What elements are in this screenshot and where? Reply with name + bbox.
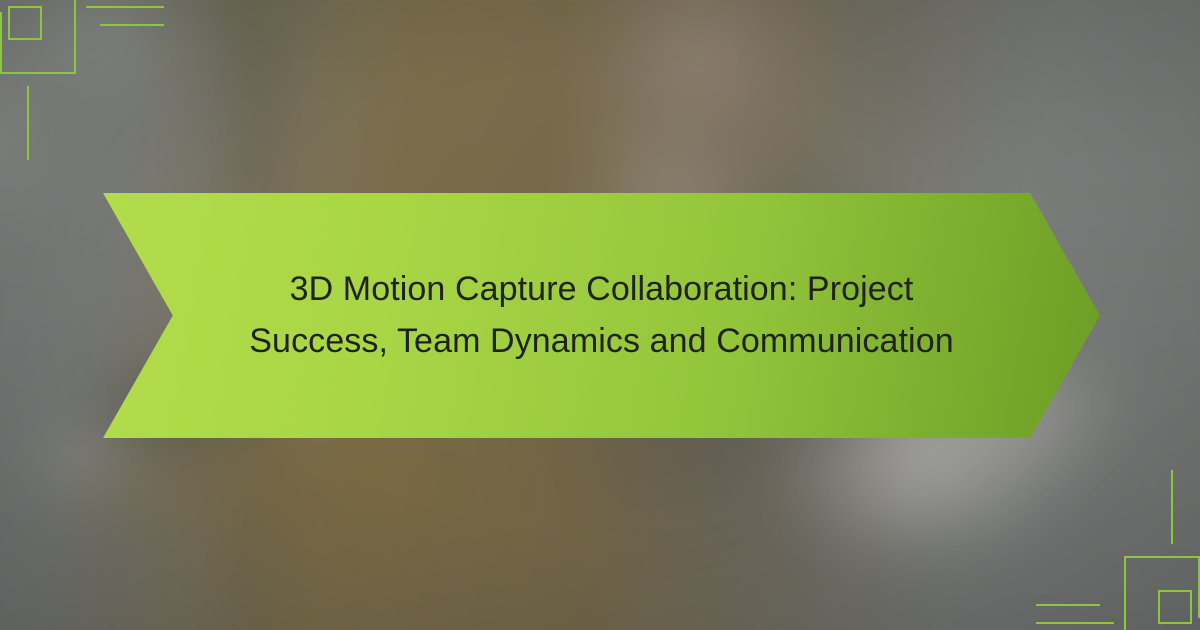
social-share-banner: 3D Motion Capture Collaboration: Project… xyxy=(0,0,1200,630)
page-title: 3D Motion Capture Collaboration: Project… xyxy=(202,264,1002,367)
title-banner-shape: 3D Motion Capture Collaboration: Project… xyxy=(103,193,1100,438)
